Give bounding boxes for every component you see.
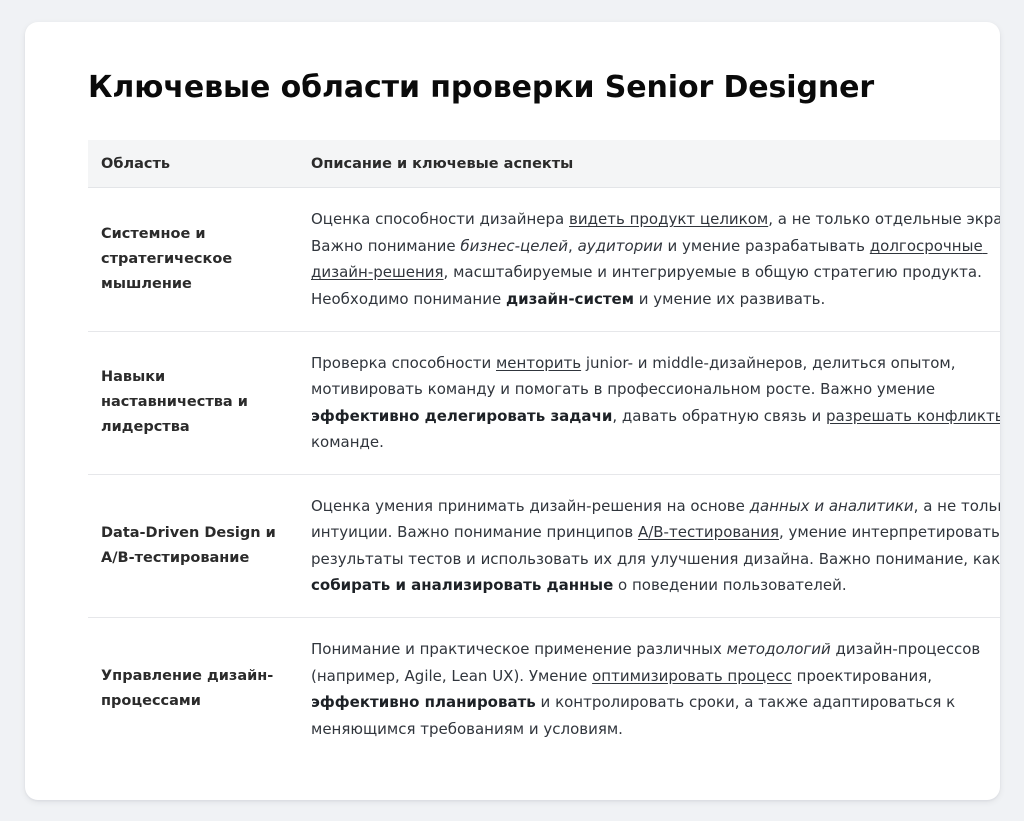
row-area-label: Навыки наставничества и лидерства	[88, 331, 298, 474]
page-root: Ключевые области проверки Senior Designe…	[0, 0, 1024, 821]
emphasis-italic: бизнес-целей	[460, 237, 568, 255]
column-header-description: Описание и ключевые аспекты	[298, 140, 1000, 188]
row-area-label: Системное и стратегическое мышление	[88, 188, 298, 331]
key-areas-table: Область Описание и ключевые аспекты Сист…	[88, 140, 1000, 760]
emphasis-underline: оптимизировать процесс	[592, 667, 792, 685]
text-fragment: и умение разрабатывать	[663, 237, 870, 255]
emphasis-bold: эффективно делегировать задачи	[311, 407, 612, 425]
card-inner: Ключевые области проверки Senior Designe…	[25, 22, 1000, 760]
text-fragment: о поведении пользователей.	[613, 576, 846, 594]
emphasis-underline: менторить	[496, 354, 581, 372]
emphasis-italic: аудитории	[578, 237, 663, 255]
text-fragment: Оценка умения принимать дизайн-решения н…	[311, 497, 750, 515]
content-card: Ключевые области проверки Senior Designe…	[25, 22, 1000, 800]
emphasis-italic: методологий	[727, 640, 831, 658]
table-container: Область Описание и ключевые аспекты Сист…	[88, 140, 1000, 760]
column-header-area: Область	[88, 140, 298, 188]
emphasis-bold: эффективно планировать	[311, 693, 536, 711]
row-area-label: Управление дизайн-процессами	[88, 617, 298, 760]
text-fragment: Понимание и практическое применение разл…	[311, 640, 727, 658]
emphasis-bold: собирать и анализировать данные	[311, 576, 613, 594]
text-fragment: и умение их развивать.	[634, 290, 825, 308]
table-header-row: Область Описание и ключевые аспекты	[88, 140, 1000, 188]
emphasis-italic: данных и аналитики	[750, 497, 914, 515]
page-title: Ключевые области проверки Senior Designe…	[88, 69, 972, 107]
emphasis-underline: A/B-тестирования	[638, 523, 779, 541]
row-description: Оценка умения принимать дизайн-решения н…	[298, 474, 1000, 617]
row-description: Оценка способности дизайнера видеть прод…	[298, 188, 1000, 331]
table-row: Навыки наставничества и лидерстваПроверк…	[88, 331, 1000, 474]
table-row: Data-Driven Design и A/B-тестированиеОце…	[88, 474, 1000, 617]
table-row: Управление дизайн-процессамиПонимание и …	[88, 617, 1000, 760]
text-fragment: ,	[568, 237, 578, 255]
table-head: Область Описание и ключевые аспекты	[88, 140, 1000, 188]
emphasis-underline: видеть продукт целиком	[569, 210, 768, 228]
text-fragment: проектирования,	[792, 667, 937, 685]
table-row: Системное и стратегическое мышлениеОценк…	[88, 188, 1000, 331]
row-description: Понимание и практическое применение разл…	[298, 617, 1000, 760]
text-fragment: , давать обратную связь и	[612, 407, 826, 425]
table-body: Системное и стратегическое мышлениеОценк…	[88, 188, 1000, 760]
text-fragment: Проверка способности	[311, 354, 496, 372]
row-area-label: Data-Driven Design и A/B-тестирование	[88, 474, 298, 617]
emphasis-bold: дизайн-систем	[506, 290, 634, 308]
row-description: Проверка способности менторить junior- и…	[298, 331, 1000, 474]
text-fragment: Оценка способности дизайнера	[311, 210, 569, 228]
emphasis-underline: разрешать конфликты	[826, 407, 1000, 425]
